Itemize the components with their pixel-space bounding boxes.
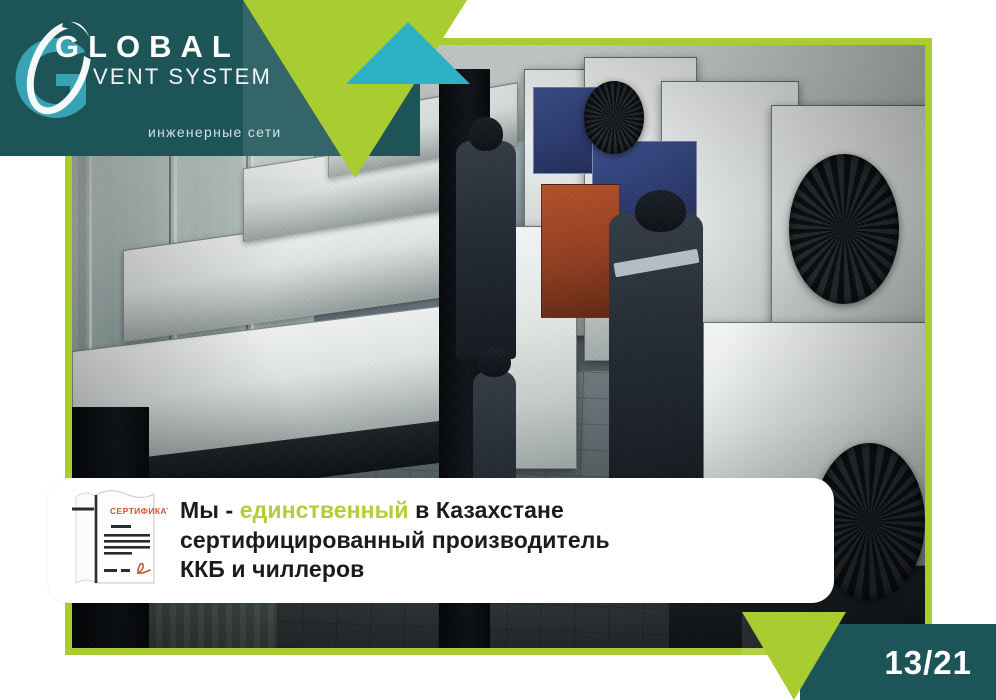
page-number-text: 13/21 <box>884 646 972 679</box>
triangle-down-green-icon <box>742 612 846 700</box>
caption-line1-before: Мы - <box>180 497 240 523</box>
caption-line-2: сертифицированный производитель <box>180 526 610 556</box>
caption-text: Мы - единственный в Казахстане сертифици… <box>180 496 610 586</box>
svg-text:СЕРТИФИКАТ: СЕРТИФИКАТ <box>110 506 168 516</box>
certificate-document-icon: СЕРТИФИКАТ <box>64 483 168 598</box>
presentation-slide: GLOBAL VENT SYSTEM инженерные сети СЕРТИ… <box>0 0 996 700</box>
caption-highlight: единственный <box>240 497 409 523</box>
brand-name-main: GLOBAL <box>55 31 240 62</box>
caption-line-3: ККБ и чиллеров <box>180 555 610 585</box>
caption-card: СЕРТИФИКАТ Мы - единственный в Казахстан… <box>48 478 834 603</box>
caption-line-1: Мы - единственный в Казахстане <box>180 496 610 526</box>
caption-line1-after: в Казахстане <box>409 497 564 523</box>
triangle-down-teal-icon <box>346 22 470 84</box>
